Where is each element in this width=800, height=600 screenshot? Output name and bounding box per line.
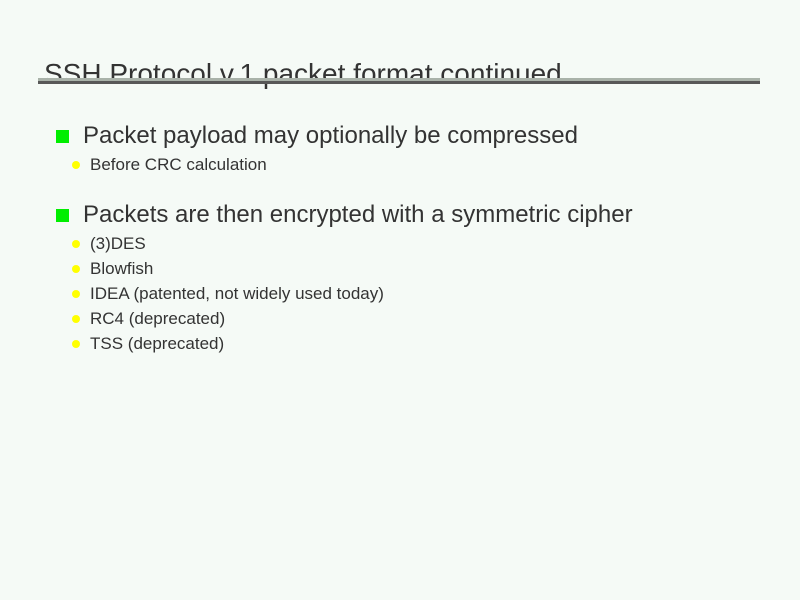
bullet-level2-list: (3)DES Blowfish IDEA (patented, not wide… [0, 231, 800, 356]
bullet-level1-label: Packet payload may optionally be compres… [83, 122, 578, 149]
divider-shadow-line [38, 81, 760, 84]
bullet-level1: Packets are then encrypted with a symmet… [0, 199, 800, 231]
bullet-level2-label: IDEA (patented, not widely used today) [90, 284, 384, 303]
bullet-level2-label: Blowfish [90, 259, 153, 278]
bullet-level2-label: RC4 (deprecated) [90, 309, 225, 328]
list-item: Before CRC calculation [0, 152, 800, 177]
dot-bullet-icon [72, 315, 80, 323]
bullet-level2-label: (3)DES [90, 234, 146, 253]
dot-bullet-icon [72, 161, 80, 169]
bullet-level2-label: TSS (deprecated) [90, 334, 224, 353]
dot-bullet-icon [72, 290, 80, 298]
bullet-level2-list: Before CRC calculation [0, 152, 800, 177]
presentation-slide: SSH Protocol v.1 packet format continued… [0, 0, 800, 600]
page-title: SSH Protocol v.1 packet format continued [44, 57, 562, 91]
dot-bullet-icon [72, 240, 80, 248]
block-spacer [0, 177, 800, 199]
square-bullet-icon [56, 209, 69, 222]
list-item: RC4 (deprecated) [0, 306, 800, 331]
dot-bullet-icon [72, 265, 80, 273]
list-item: Blowfish [0, 256, 800, 281]
content-block: Packet payload may optionally be compres… [0, 120, 800, 177]
square-bullet-icon [56, 130, 69, 143]
bullet-level1-label: Packets are then encrypted with a symmet… [83, 201, 633, 228]
title-divider [38, 78, 760, 84]
slide-body: Packet payload may optionally be compres… [0, 120, 800, 356]
content-block: Packets are then encrypted with a symmet… [0, 199, 800, 356]
list-item: (3)DES [0, 231, 800, 256]
bullet-level2-label: Before CRC calculation [90, 155, 267, 174]
dot-bullet-icon [72, 340, 80, 348]
bullet-level1: Packet payload may optionally be compres… [0, 120, 800, 152]
list-item: IDEA (patented, not widely used today) [0, 281, 800, 306]
list-item: TSS (deprecated) [0, 331, 800, 356]
